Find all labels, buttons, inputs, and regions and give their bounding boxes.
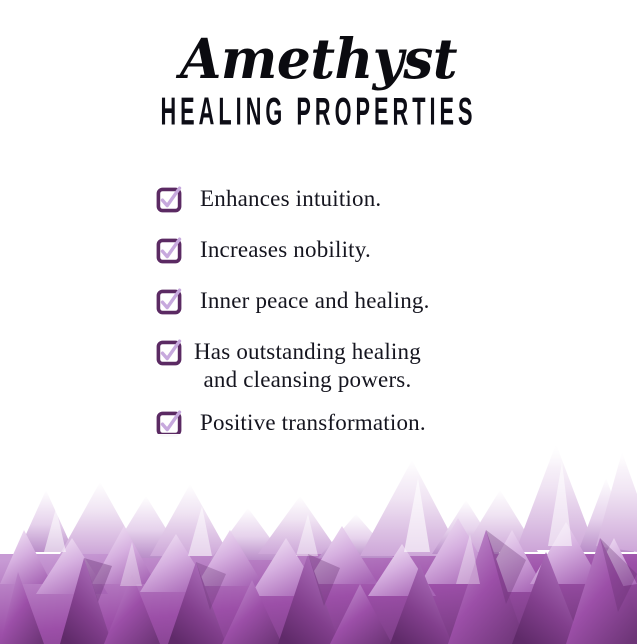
list-item: Inner peace and healing. <box>156 286 596 315</box>
amethyst-crystal-cluster-image <box>0 434 637 644</box>
checkbox-checked-icon <box>156 187 182 213</box>
page-title: Amethyst <box>10 30 628 88</box>
healing-properties-list: Enhances intuition. Increases nobility. … <box>156 184 596 459</box>
list-item-label-line-1: Has outstanding healing <box>194 339 421 364</box>
list-item: Increases nobility. <box>156 235 596 264</box>
list-item: Positive transformation. <box>156 408 596 437</box>
poster-canvas: Amethyst HEALING PROPERTIES Enhances int… <box>0 0 637 644</box>
list-item: Has outstanding healing and cleansing po… <box>156 337 596 394</box>
list-item-label: Inner peace and healing. <box>200 286 430 315</box>
title-block: Amethyst HEALING PROPERTIES <box>0 30 637 129</box>
list-item-label: Positive transformation. <box>200 408 426 437</box>
list-item-label-line-2: and cleansing powers. <box>203 367 411 392</box>
checkbox-checked-icon <box>156 238 182 264</box>
page-subtitle: HEALING PROPERTIES <box>121 92 516 131</box>
list-item-label: Increases nobility. <box>200 235 371 264</box>
checkbox-checked-icon <box>156 411 182 437</box>
list-item-label: Enhances intuition. <box>200 184 381 213</box>
list-item-label-multiline: Has outstanding healing and cleansing po… <box>194 337 421 394</box>
checkbox-checked-icon <box>156 289 182 315</box>
checkbox-checked-icon <box>156 340 182 366</box>
list-item: Enhances intuition. <box>156 184 596 213</box>
